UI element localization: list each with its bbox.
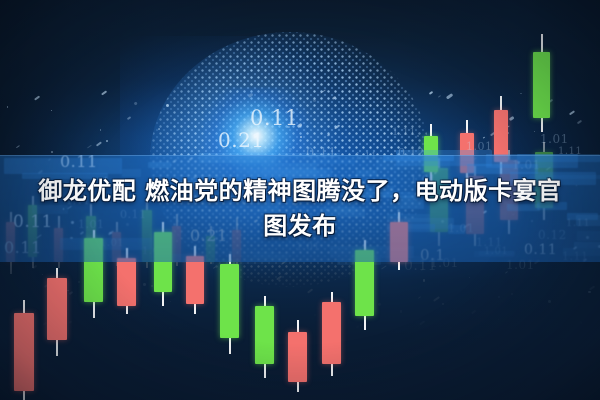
banner-image: 0.110.211.111.110.111.011.110.111.010.11… <box>0 0 600 400</box>
vignette-overlay <box>0 0 600 400</box>
